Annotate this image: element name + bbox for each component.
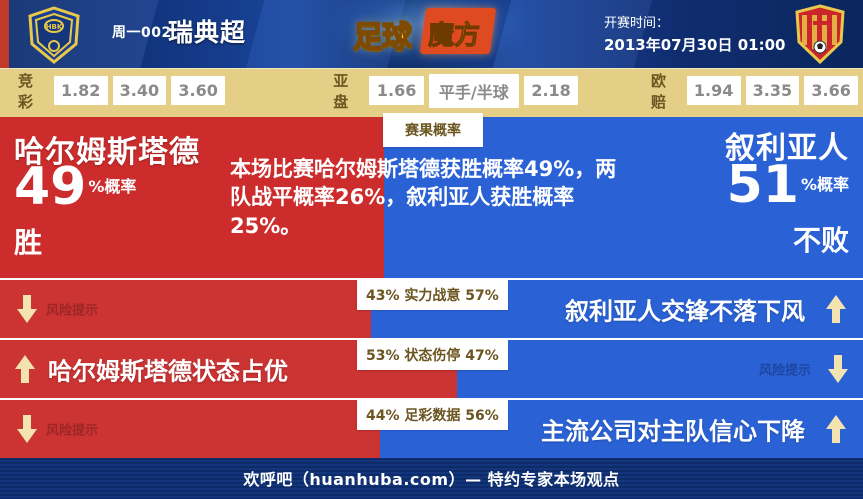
- odds-value[interactable]: 3.35: [746, 76, 800, 105]
- risk-down-arrow-icon: [827, 355, 849, 383]
- row-verdict: 叙利亚人交锋不落下风: [565, 292, 805, 327]
- probability-chip-label: 赛果概率: [383, 113, 483, 147]
- odds-value[interactable]: 1.82: [54, 76, 108, 105]
- verdict-up-arrow-icon: [825, 295, 847, 323]
- odds-value[interactable]: 1.66: [369, 76, 423, 105]
- home-probability-value: 49%概率: [14, 161, 136, 213]
- home-team-crest-icon: HBK: [26, 6, 82, 64]
- row-verdict: 主流公司对主队信心下降: [541, 412, 805, 447]
- home-percent-suffix: %概率: [88, 177, 136, 196]
- away-percent-number: 51: [727, 155, 799, 215]
- row-metric-chip: 44% 足彩数据 56%: [357, 400, 508, 430]
- probability-band: 哈尔姆斯塔德 49%概率 胜 叙利亚人 51%概率 不败 赛果概率 本场比赛哈尔…: [0, 113, 863, 278]
- row-left-share: 风险提示: [0, 400, 380, 458]
- row-right-percent: 56%: [465, 408, 499, 424]
- match-summary-text: 本场比赛哈尔姆斯塔德获胜概率49%，两队战平概率26%，叙利亚人获胜概率25%。: [230, 155, 625, 240]
- odds-group-jingcai: 竞彩 1.82 3.40 3.60: [0, 70, 230, 112]
- logo-text-primary: 足球: [353, 12, 411, 56]
- footer-bar: 欢呼吧（huanhuba.com）— 特约专家本场观点: [0, 458, 863, 498]
- verdict-up-arrow-icon: [825, 415, 847, 443]
- risk-label: 风险提示: [46, 300, 98, 319]
- logo-text-secondary: 魔方: [423, 8, 493, 52]
- row-right-percent: 47%: [465, 348, 499, 364]
- row-metric-label: 实力战意: [404, 288, 460, 304]
- row-metric-label: 状态伤停: [404, 348, 460, 364]
- odds-group-oupei: 欧赔 1.94 3.35 3.66: [633, 70, 863, 112]
- league-name: 瑞典超: [168, 13, 246, 49]
- svg-text:HBK: HBK: [46, 23, 63, 31]
- row-right-percent: 57%: [465, 288, 499, 304]
- odds-bar: 竞彩 1.82 3.40 3.60 亚盘 1.66 平手/半球 2.18 欧赔 …: [0, 68, 863, 113]
- odds-group-label: 欧赔: [651, 70, 679, 112]
- risk-down-arrow-icon: [16, 295, 38, 323]
- kickoff-label: 开赛时间：: [604, 12, 669, 31]
- away-probability-value: 51%概率: [727, 159, 849, 211]
- odds-group-label: 竞彩: [18, 70, 46, 112]
- row-verdict: 哈尔姆斯塔德状态占优: [48, 352, 288, 387]
- home-percent-number: 49: [14, 157, 86, 217]
- row-metric-chip: 43% 实力战意 57%: [357, 280, 508, 310]
- row-left-share: 风险提示: [0, 280, 371, 338]
- risk-label: 风险提示: [46, 420, 98, 439]
- away-team-crest-icon: [793, 4, 847, 64]
- odds-handicap[interactable]: 平手/半球: [429, 74, 519, 108]
- verdict-up-arrow-icon: [14, 355, 36, 383]
- odds-value[interactable]: 2.18: [524, 76, 578, 105]
- row-right-share: 风险提示: [457, 340, 863, 398]
- footer-text: 欢呼吧（huanhuba.com）— 特约专家本场观点: [243, 466, 619, 490]
- comparison-row: 哈尔姆斯塔德状态占优 风险提示 53% 状态伤停 47%: [0, 338, 863, 398]
- match-preview-infographic: HBK 周一002 瑞典超 足球 魔方 开赛时间： 2013年07月30日 01…: [0, 0, 863, 499]
- odds-value[interactable]: 3.60: [171, 76, 225, 105]
- header-red-strip: [0, 0, 9, 68]
- risk-label: 风险提示: [759, 360, 811, 379]
- match-number: 周一002: [112, 22, 172, 42]
- logo-badge: 魔方: [420, 8, 496, 54]
- kickoff-time: 2013年07月30日 01:00: [604, 34, 785, 55]
- row-metric-label: 足彩数据: [404, 408, 460, 424]
- comparison-rows: 风险提示 叙利亚人交锋不落下风 43% 实力战意 57% 哈尔姆斯塔德状态占优: [0, 278, 863, 458]
- odds-value[interactable]: 1.94: [687, 76, 741, 105]
- odds-value[interactable]: 3.66: [804, 76, 858, 105]
- row-left-percent: 43%: [366, 288, 400, 304]
- odds-value[interactable]: 3.40: [113, 76, 167, 105]
- away-percent-suffix: %概率: [801, 175, 849, 194]
- risk-down-arrow-icon: [16, 415, 38, 443]
- site-logo[interactable]: 足球 魔方: [345, 0, 505, 68]
- row-left-percent: 44%: [366, 408, 400, 424]
- header-bar: HBK 周一002 瑞典超 足球 魔方 开赛时间： 2013年07月30日 01…: [0, 0, 863, 68]
- away-outcome-label: 不败: [793, 219, 849, 259]
- row-left-percent: 53%: [366, 348, 400, 364]
- comparison-row: 风险提示 主流公司对主队信心下降 44% 足彩数据 56%: [0, 398, 863, 458]
- comparison-row: 风险提示 叙利亚人交锋不落下风 43% 实力战意 57%: [0, 278, 863, 338]
- home-outcome-label: 胜: [14, 221, 42, 261]
- odds-group-yapan: 亚盘 1.66 平手/半球 2.18: [315, 70, 583, 112]
- row-metric-chip: 53% 状态伤停 47%: [357, 340, 508, 370]
- odds-group-label: 亚盘: [333, 70, 361, 112]
